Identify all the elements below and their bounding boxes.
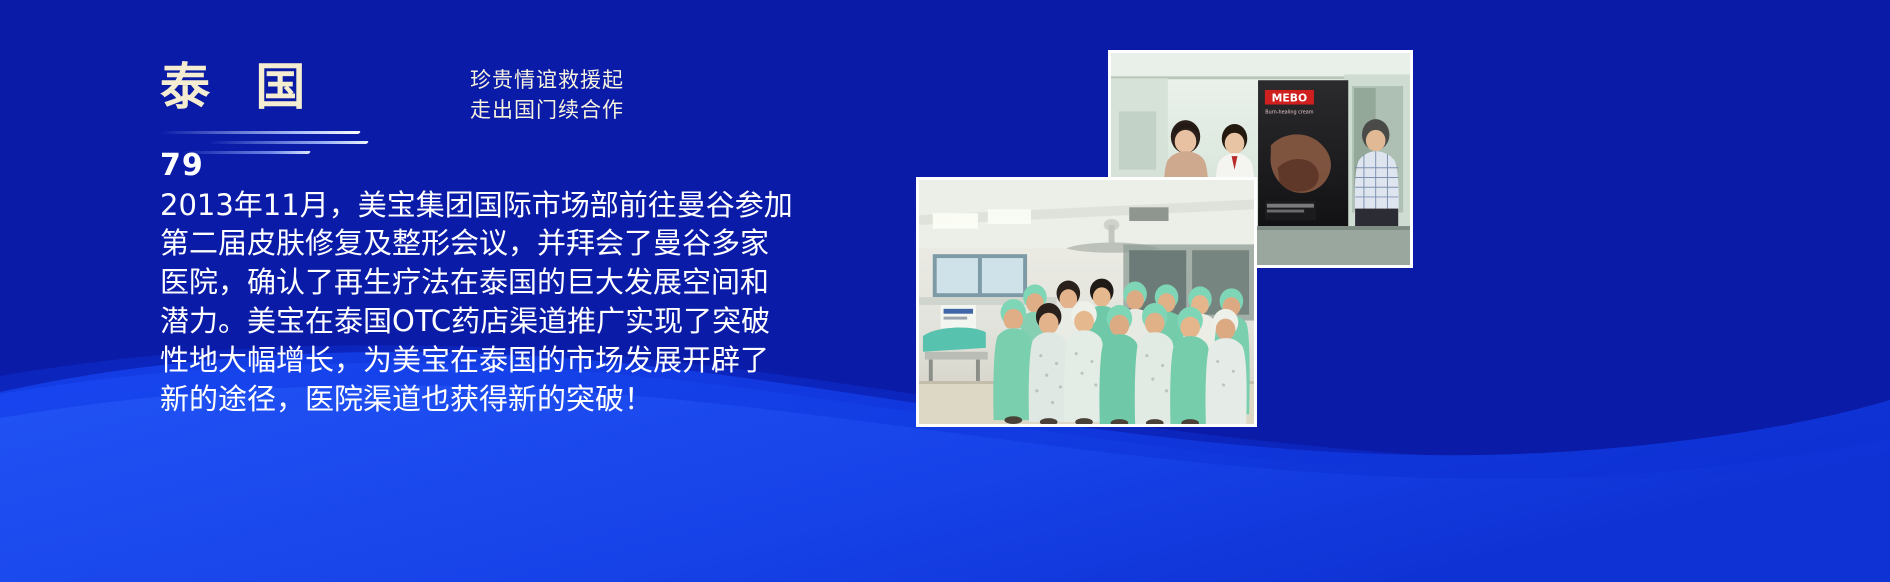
paragraph-line: 性地大幅增长，为美宝在泰国的市场发展开辟了 bbox=[160, 341, 840, 380]
slide-root: 泰 国 珍贵情谊救援起 走出国门续合作 79 2013年11月，美宝集团国际市场… bbox=[0, 0, 1890, 582]
paragraph-line: 第二届皮肤修复及整形会议，并拜会了曼谷多家 bbox=[160, 224, 840, 263]
svg-text:Burn-healing cream: Burn-healing cream bbox=[1265, 109, 1313, 115]
item-number: 79 bbox=[160, 150, 840, 182]
subtitle-line-2: 走出国门续合作 bbox=[470, 95, 624, 125]
subtitle-block: 珍贵情谊救援起 走出国门续合作 bbox=[470, 65, 624, 126]
subtitle-line-1: 珍贵情谊救援起 bbox=[470, 65, 624, 95]
body-paragraph: 2013年11月，美宝集团国际市场部前往曼谷参加 第二届皮肤修复及整形会议，并拜… bbox=[160, 186, 840, 419]
deco-line-1 bbox=[159, 131, 361, 134]
paragraph-line: 新的途径，医院渠道也获得新的突破！ bbox=[160, 380, 840, 419]
paragraph-line: 2013年11月，美宝集团国际市场部前往曼谷参加 bbox=[160, 186, 840, 225]
svg-text:MEBO: MEBO bbox=[1272, 92, 1307, 105]
paragraph-line: 医院，确认了再生疗法在泰国的巨大发展空间和 bbox=[160, 263, 840, 302]
deco-line-2 bbox=[207, 141, 369, 144]
paragraph-line: 潜力。美宝在泰国OTC药店渠道推广实现了突破 bbox=[160, 302, 840, 341]
hospital-staff-photo bbox=[916, 177, 1257, 427]
content-block: 79 2013年11月，美宝集团国际市场部前往曼谷参加 第二届皮肤修复及整形会议… bbox=[160, 150, 840, 419]
